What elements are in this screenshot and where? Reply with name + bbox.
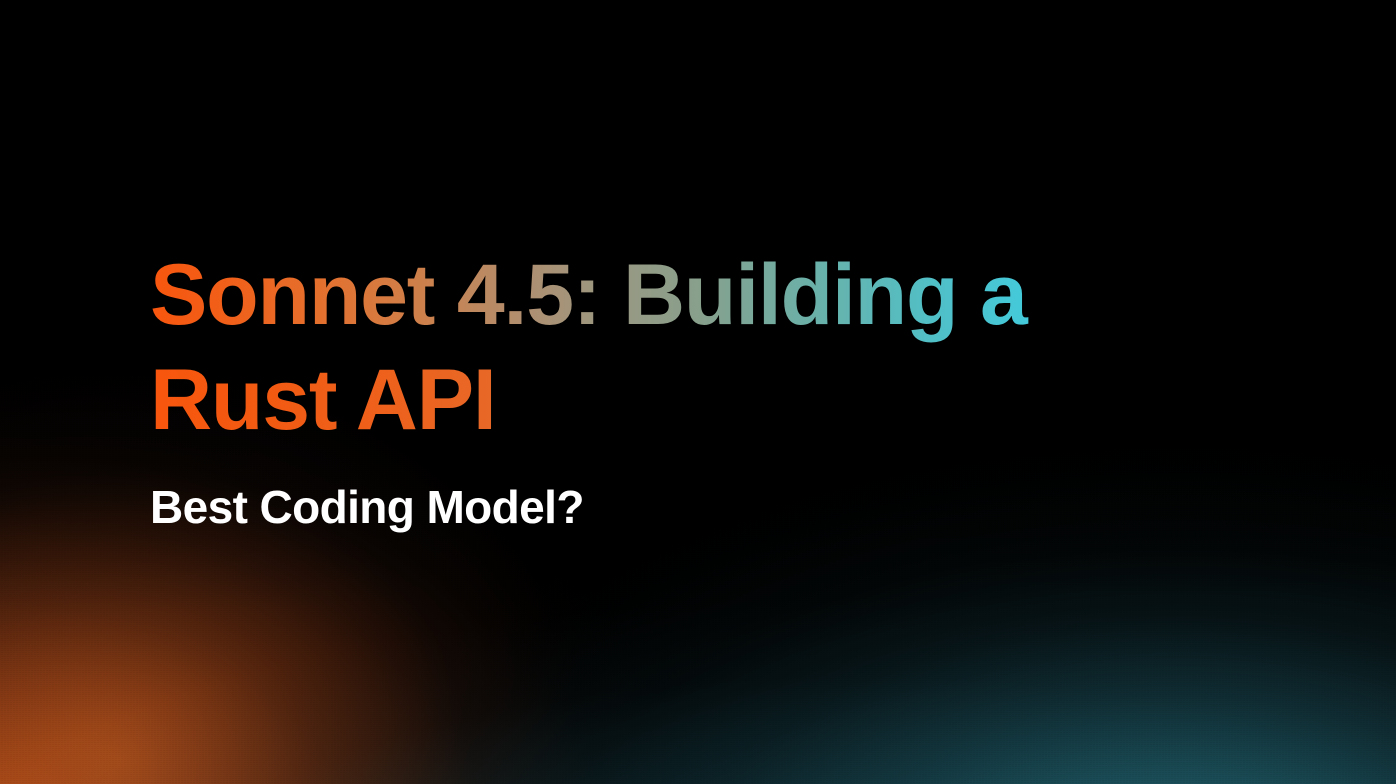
title-line-1: Sonnet 4.5: Building a [150, 243, 1150, 348]
title-block: Sonnet 4.5: Building a Rust API Best Cod… [150, 243, 1150, 535]
title-line-2: Rust API [150, 348, 1150, 453]
subtitle: Best Coding Model? [150, 453, 1150, 535]
title-slide: Sonnet 4.5: Building a Rust API Best Cod… [0, 0, 1396, 784]
